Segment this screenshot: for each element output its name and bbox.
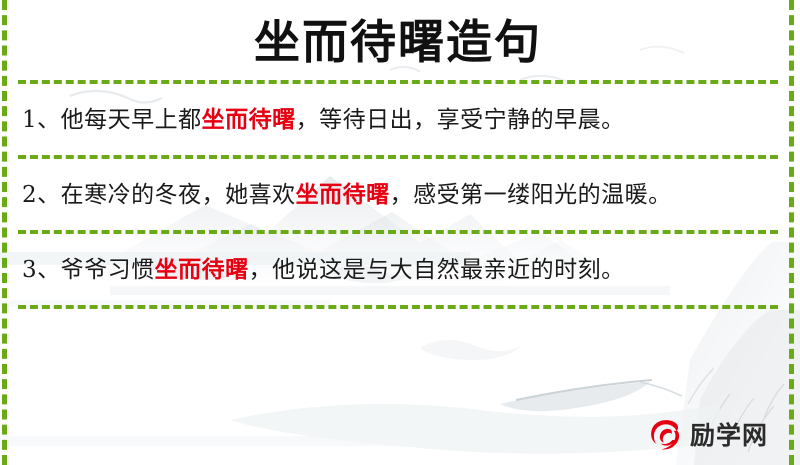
content-area: 坐而待曙造句 1、他每天早上都坐而待曙，等待日出，享受宁静的早晨。 2、在寒冷的…: [0, 0, 800, 383]
bottom-spacer: [18, 309, 778, 383]
sentence-text-before-3: 爷爷习惯: [61, 257, 155, 283]
swirl-flame-icon: [649, 418, 683, 452]
logo-text: 励学网: [690, 423, 768, 448]
right-dashed-border: [789, 0, 794, 465]
sentence-item-3: 3、爷爷习惯坐而待曙，他说这是与大自然最亲近的时刻。: [18, 234, 778, 305]
sentence-text-before-1: 他每天早上都: [61, 107, 202, 133]
sentence-number-2: 2、: [22, 182, 61, 208]
worksheet-page: 坐而待曙造句 1、他每天早上都坐而待曙，等待日出，享受宁静的早晨。 2、在寒冷的…: [0, 0, 800, 465]
site-logo[interactable]: 励学网: [649, 418, 768, 452]
idiom-highlight-1: 坐而待曙: [202, 106, 296, 133]
left-dashed-border: [2, 0, 7, 465]
sentence-number-3: 3、: [22, 257, 61, 283]
sentence-item-1: 1、他每天早上都坐而待曙，等待日出，享受宁静的早晨。: [18, 84, 778, 155]
sentence-number-1: 1、: [22, 107, 61, 133]
sentence-list: 1、他每天早上都坐而待曙，等待日出，享受宁静的早晨。 2、在寒冷的冬夜，她喜欢坐…: [18, 84, 778, 310]
page-title: 坐而待曙造句: [18, 0, 778, 80]
sentence-text-before-2: 在寒冷的冬夜，她喜欢: [61, 182, 296, 208]
sentence-item-2: 2、在寒冷的冬夜，她喜欢坐而待曙，感受第一缕阳光的温暖。: [18, 159, 778, 230]
sentence-text-after-1: ，等待日出，享受宁静的早晨。: [296, 107, 625, 133]
idiom-highlight-2: 坐而待曙: [296, 181, 390, 208]
sentence-text-after-3: ，他说这是与大自然最亲近的时刻。: [249, 257, 625, 283]
sentence-text-after-2: ，感受第一缕阳光的温暖。: [390, 182, 672, 208]
idiom-highlight-3: 坐而待曙: [155, 256, 249, 283]
